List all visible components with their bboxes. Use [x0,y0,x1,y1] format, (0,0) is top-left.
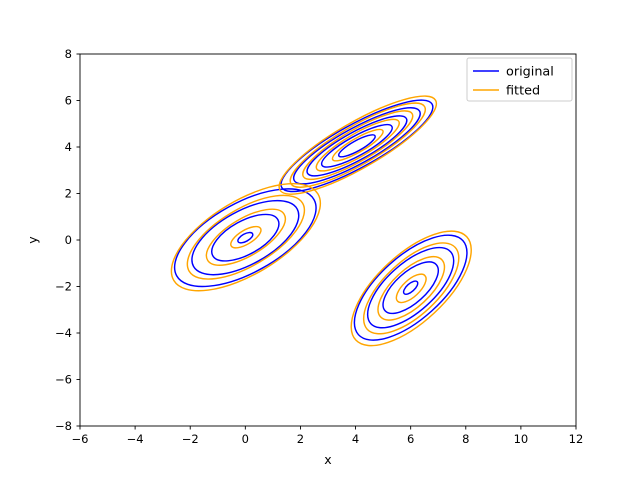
x-tick-label-10: 10 [514,432,529,446]
y-tick-label--6: −6 [55,373,72,387]
contour-group-fitted-component-1 [155,162,337,312]
y-tick-label--2: −2 [55,280,72,294]
contour-ring-fitted-component-1-level-0 [228,222,264,252]
x-tick-label-8: 8 [462,432,469,446]
figure-canvas: −6−4−2024681012−8−6−4−202468xy originalf… [0,0,640,480]
contour-ring-original-component-3-level-2 [355,234,467,342]
x-axis-label: x [324,452,331,467]
y-tick-label-4: 4 [65,140,72,154]
contour-group-fitted-component-3 [333,212,490,365]
x-tick-label-12: 12 [569,432,584,446]
x-tick-label--2: −2 [182,432,199,446]
y-tick-label--8: −8 [55,419,72,433]
y-tick-label-2: 2 [65,187,72,201]
contour-plot: −6−4−2024681012−8−6−4−202468xy originalf… [0,0,640,480]
axes-layer: −6−4−2024681012−8−6−4−202468xy [25,47,583,467]
x-tick-label--4: −4 [127,432,144,446]
x-tick-label-4: 4 [352,432,359,446]
y-tick-label-0: 0 [65,233,72,247]
axes-frame [80,54,576,426]
x-tick-label--6: −6 [72,432,89,446]
legend-label-original: original [506,65,554,80]
contour-ring-original-component-3-level-3 [337,217,483,358]
y-tick-label-8: 8 [65,47,72,61]
y-axis-label: y [25,236,40,244]
contour-ring-fitted-component-1-level-1 [198,198,294,276]
x-tick-label-6: 6 [407,432,414,446]
contour-series-original [160,85,484,358]
y-tick-label--4: −4 [55,326,72,340]
contours-layer [155,80,490,364]
legend-label-fitted: fitted [506,84,540,99]
contour-group-original-component-3 [337,217,483,358]
x-tick-label-0: 0 [242,432,249,446]
legend-layer[interactable]: originalfitted [467,58,572,101]
y-tick-label-6: 6 [65,94,72,108]
contour-ring-fitted-component-3-level-3 [333,212,490,365]
contour-ring-fitted-component-1-level-3 [155,162,337,312]
x-tick-label-2: 2 [297,432,304,446]
